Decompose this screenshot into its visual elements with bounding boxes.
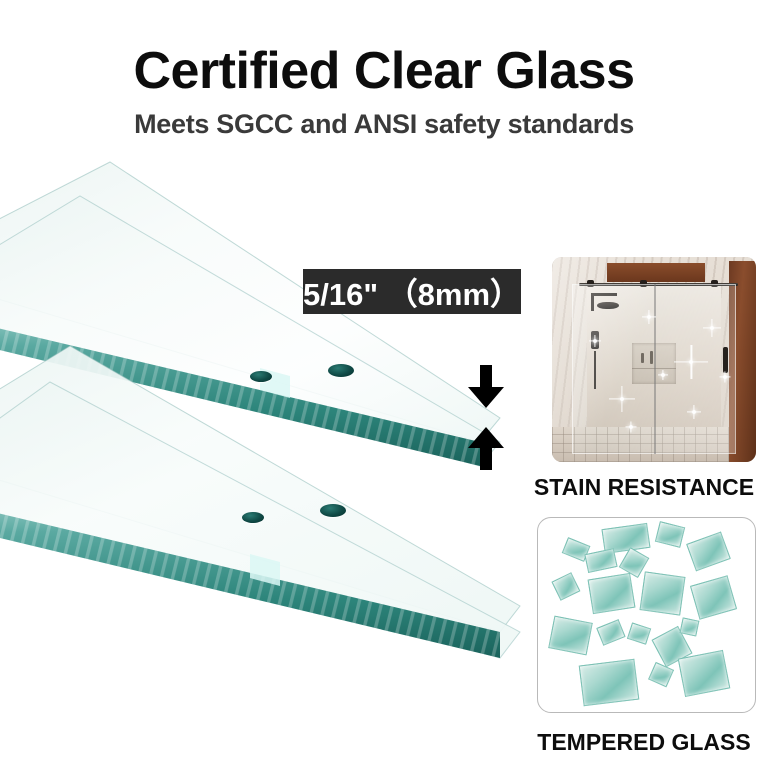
glass-shard [655, 521, 685, 548]
glass-shard [552, 573, 581, 602]
caption-stain-resistance: STAIN RESISTANCE [520, 474, 768, 501]
glass-shard [596, 619, 625, 646]
caption-tempered-glass: TEMPERED GLASS [520, 729, 768, 756]
glass-shard [584, 548, 618, 573]
glass-shard [627, 622, 651, 645]
shower-door-split [654, 284, 656, 454]
mounting-hole [242, 512, 264, 523]
arrow-down-icon [466, 365, 506, 409]
shower-door-handle [723, 347, 728, 373]
glass-shard [588, 573, 636, 614]
glass-shard [686, 532, 731, 572]
page-subtitle: Meets SGCC and ANSI safety standards [0, 108, 768, 140]
glass-shard [680, 617, 700, 636]
glass-shard [690, 575, 737, 619]
page-title: Certified Clear Glass [0, 44, 768, 99]
thickness-measure-arrows [466, 365, 510, 470]
glass-shard [678, 650, 730, 697]
thickness-badge: 5/16" （8mm） [303, 269, 521, 314]
glass-shard [548, 615, 593, 655]
glass-shard [648, 662, 674, 688]
glass-shard [640, 572, 686, 616]
feature-image-tempered-glass [537, 517, 756, 713]
feature-image-stain-resistance [552, 257, 756, 462]
arrow-up-icon [466, 426, 506, 470]
mounting-hole [320, 504, 346, 517]
infographic-canvas: Certified Clear Glass Meets SGCC and ANS… [0, 0, 768, 768]
glass-shard [579, 658, 640, 705]
shower-header-panel [607, 263, 705, 281]
